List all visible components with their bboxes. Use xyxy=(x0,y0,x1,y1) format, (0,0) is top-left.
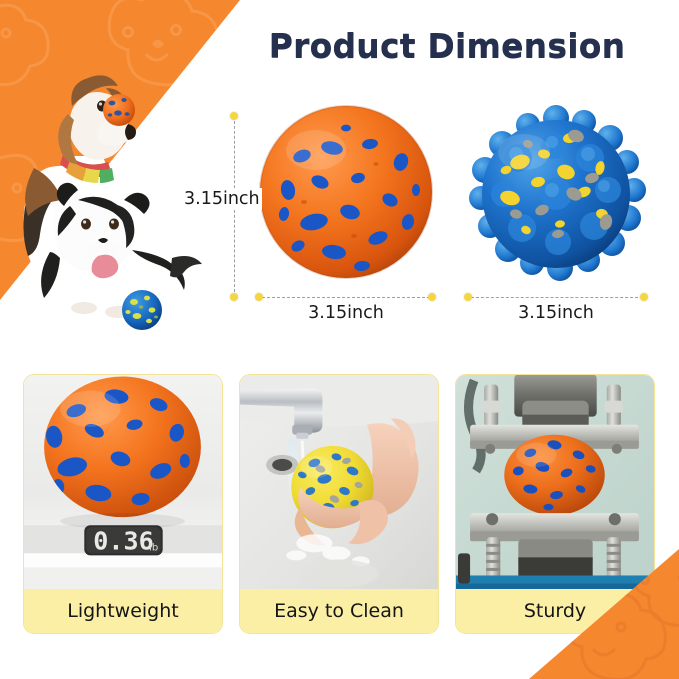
dimension-line-horizontal-right xyxy=(471,297,643,298)
blue-spiky-ball-icon xyxy=(466,102,646,282)
scale-lcd-display: 0.36 lb xyxy=(84,525,162,555)
dimension-endpoint-dot xyxy=(464,293,472,301)
dimension-height-label: 3.15inch xyxy=(182,188,262,210)
photo-hydraulic-press xyxy=(456,375,654,589)
page-title: Product Dimension xyxy=(232,26,662,65)
dimension-endpoint-dot xyxy=(255,293,263,301)
feature-caption-lightweight: Lightweight xyxy=(24,589,222,633)
product-dimension-infographic: Product Dimension xyxy=(0,0,679,679)
border-collie-dog xyxy=(37,183,202,323)
dimension-endpoint-dot xyxy=(230,293,238,301)
scale-unit: lb xyxy=(149,542,158,553)
product-photo-orange-ball xyxy=(258,104,434,280)
washing-ball-illustration xyxy=(240,375,438,589)
kitchen-scale-illustration: 0.36 lb xyxy=(24,375,222,589)
photo-ball-on-scale: 0.36 lb xyxy=(24,375,222,589)
dimension-width-label-right: 3.15inch xyxy=(466,303,646,323)
feature-panel-easy-to-clean: Easy to Clean xyxy=(239,374,439,634)
feature-caption-easy-to-clean: Easy to Clean xyxy=(240,589,438,633)
orange-speckled-ball-icon xyxy=(258,104,434,280)
feature-panel-sturdy: Sturdy xyxy=(455,374,655,634)
hero-dogs-photo xyxy=(6,18,220,330)
product-photo-blue-spiky-ball xyxy=(466,102,646,282)
feature-panels: 0.36 lb Lightweight xyxy=(23,374,657,634)
dimension-line-horizontal-left xyxy=(262,297,430,298)
scale-reading: 0.36 xyxy=(93,526,153,555)
photo-washing-ball xyxy=(240,375,438,589)
ball-in-beagle-mouth xyxy=(103,94,135,126)
dimension-endpoint-dot xyxy=(428,293,436,301)
dimension-width-label-left: 3.15inch xyxy=(258,303,434,323)
blue-yellow-ball xyxy=(122,290,162,330)
dimension-endpoint-dot xyxy=(640,293,648,301)
feature-panel-lightweight: 0.36 lb Lightweight xyxy=(23,374,223,634)
dimension-endpoint-dot xyxy=(230,112,238,120)
dogs-with-balls-illustration xyxy=(6,18,220,330)
hydraulic-press-illustration xyxy=(456,375,654,589)
